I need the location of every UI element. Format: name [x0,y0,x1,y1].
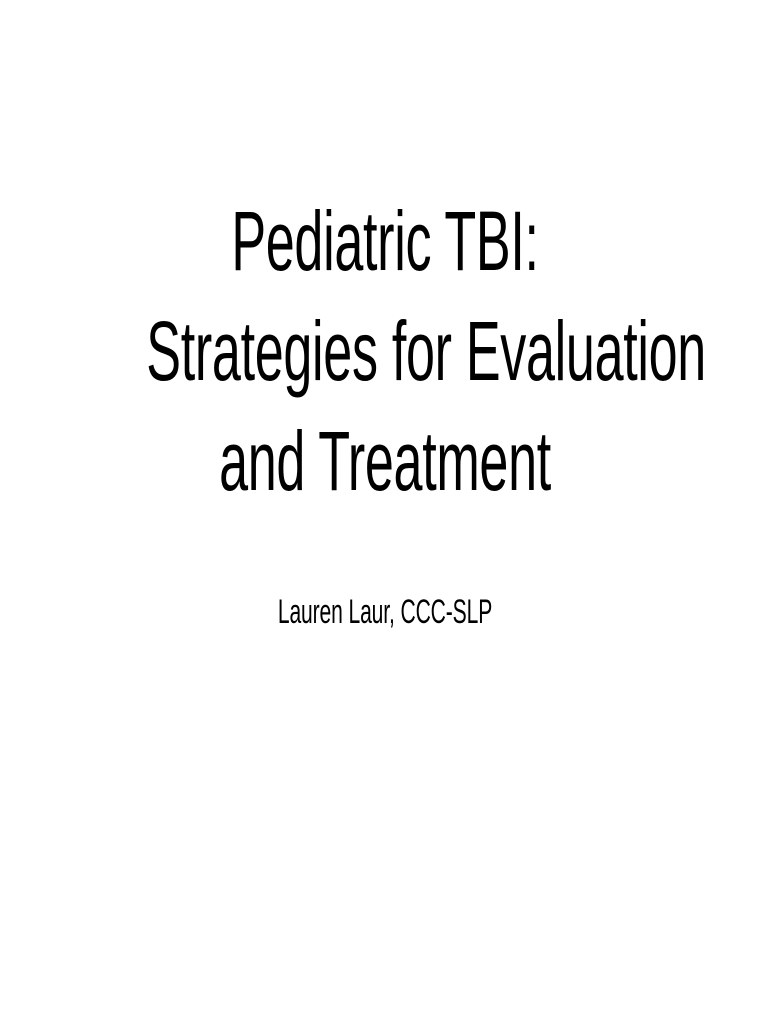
title-line-2: Strategies for Evaluation [146,296,623,406]
presenter-name: Lauren Laur, CCC-SLP [146,592,623,632]
slide-body-empty-area [0,660,770,1024]
slide-subtitle: Lauren Laur, CCC-SLP [0,592,770,632]
title-slide: Pediatric TBI: Strategies for Evaluation… [0,0,770,1024]
title-line-3: and Treatment [146,406,623,516]
title-line-1: Pediatric TBI: [146,186,623,296]
slide-title: Pediatric TBI: Strategies for Evaluation… [0,186,770,516]
